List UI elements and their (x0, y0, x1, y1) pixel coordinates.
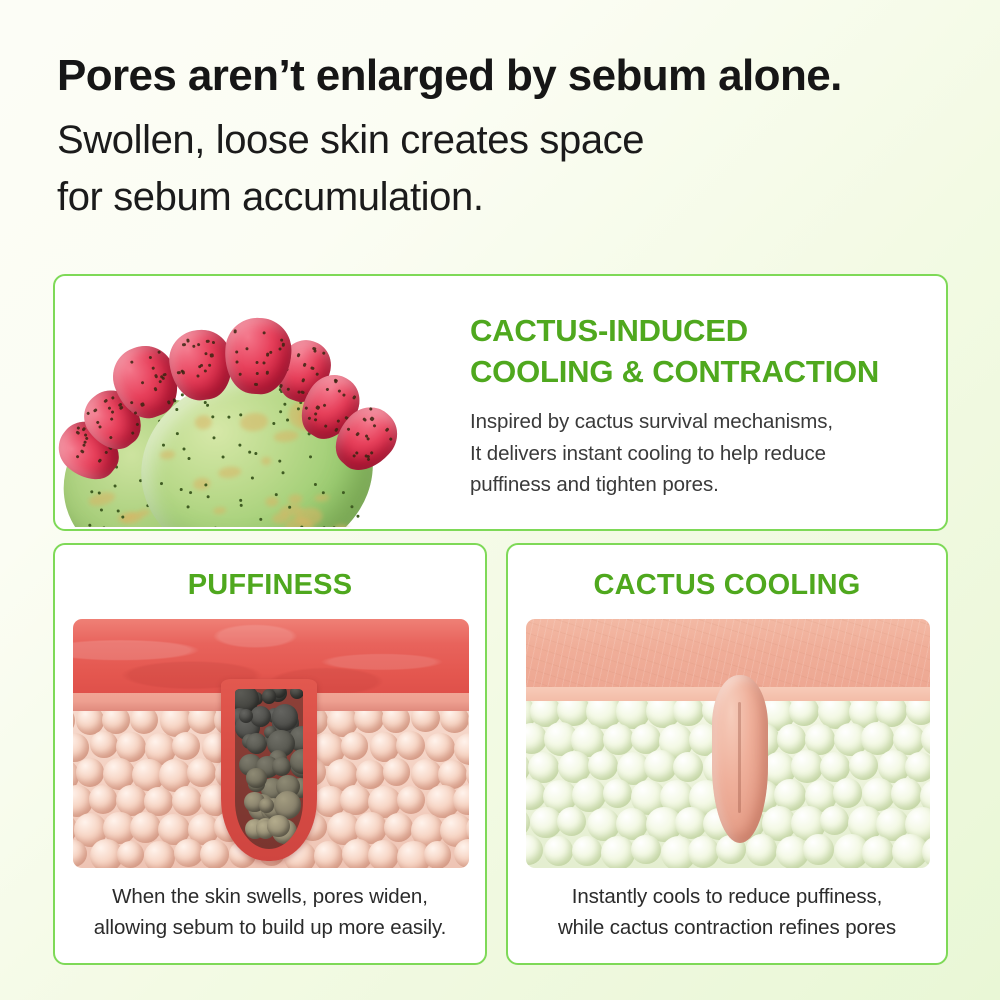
fruit-spine (148, 355, 152, 359)
infographic-page: Pores aren’t enlarged by sebum alone. Sw… (0, 0, 1000, 1000)
skin-cell (89, 785, 118, 814)
skin-cell (601, 836, 635, 868)
fruit-spine (256, 372, 259, 375)
cactus-spine (313, 482, 316, 485)
fruit-spine (313, 412, 317, 416)
cactus-spine (322, 526, 325, 527)
fruit-spine (133, 411, 137, 415)
sebum-blob (246, 768, 266, 788)
cactus-feature-body-line-2: It delivers instant cooling to help redu… (470, 438, 982, 469)
cactus-blotch (273, 429, 300, 443)
fruit-spine (269, 351, 272, 354)
skin-cell (130, 812, 161, 843)
fruit-spine (368, 406, 373, 411)
fruit-spine (370, 417, 375, 422)
cactus-blotch (314, 494, 330, 503)
fruit-spine (192, 345, 196, 349)
fruit-spine (234, 330, 237, 333)
skin-cell (891, 778, 923, 810)
skin-cell (603, 724, 634, 755)
fruit-spine (130, 360, 134, 364)
fruit-spine (280, 338, 283, 341)
cactus-spine (206, 404, 209, 407)
fruit-spine (316, 405, 320, 409)
skin-cell (383, 758, 411, 786)
skin-cell (397, 786, 425, 814)
puffiness-skin-image (73, 619, 469, 868)
skin-cell (200, 840, 229, 868)
fruit-spine (93, 408, 97, 412)
fruit-spine (109, 435, 113, 439)
fruit-spine (355, 432, 360, 437)
cactus-spine (159, 482, 162, 485)
skin-cell (746, 834, 777, 865)
skin-cell (90, 731, 118, 759)
cactus-spine (356, 515, 359, 518)
cactus-illustration (57, 282, 407, 527)
cactus-blotch (265, 496, 278, 507)
cactus-blotch (194, 414, 213, 431)
sebum-blob (239, 709, 253, 723)
fruit-spine (300, 390, 304, 394)
skin-cell (384, 813, 413, 842)
cactus-cooling-skin-image (526, 619, 930, 868)
fruit-spine (286, 387, 290, 391)
cactus-spine (113, 484, 117, 488)
fruit-spine (167, 400, 171, 404)
fruit-spine (153, 387, 157, 391)
cactus-spine (179, 488, 182, 491)
fruit-spine (140, 381, 144, 385)
fruit-spine (324, 424, 328, 428)
cactus-feature-text: CACTUS-INDUCED COOLING & CONTRACTION Ins… (470, 310, 982, 500)
cactus-spine (279, 410, 282, 413)
skin-cell (849, 751, 878, 780)
cactus-spine (278, 460, 281, 463)
page-title: Pores aren’t enlarged by sebum alone. (57, 54, 957, 98)
cactus-spine (162, 443, 165, 446)
cactus-spine (254, 452, 257, 455)
fruit-spine (388, 436, 393, 441)
swollen-skin-illustration (73, 619, 469, 868)
fruit-spine (83, 440, 87, 444)
cactus-spine (251, 477, 254, 480)
cactus-spine (239, 498, 242, 501)
fruit-spine (366, 454, 371, 459)
cactus-spine (116, 509, 120, 513)
fruit-spine (278, 347, 281, 350)
fruit-spine (98, 425, 102, 429)
fruit-spine (196, 374, 200, 378)
fruit-spine (206, 340, 210, 344)
fruit-spine (204, 352, 208, 356)
fruit-spine (104, 450, 108, 454)
fruit-spine (186, 339, 190, 343)
fruit-spine (310, 366, 314, 370)
fruit-spine (109, 417, 113, 421)
skin-cell (833, 778, 862, 807)
cooled-skin-illustration (526, 619, 930, 868)
fruit-spine (119, 405, 123, 409)
fruit-spine (266, 371, 269, 374)
skin-cell (803, 834, 834, 865)
skin-cell (921, 722, 930, 756)
skin-cell (526, 835, 543, 865)
cactus-spine (182, 447, 185, 450)
fruit-spine (246, 347, 249, 350)
skin-cell (340, 785, 371, 816)
cactus-spine (227, 415, 230, 418)
fruit-spine (208, 364, 212, 368)
skin-cell (368, 840, 399, 868)
fruit-spine (235, 360, 238, 363)
fruit-spine (255, 361, 258, 364)
fruit-spine (313, 418, 317, 422)
fruit-spine (301, 378, 305, 382)
fruit-spine (203, 370, 207, 374)
skin-cell (791, 750, 823, 782)
fruit-spine (200, 363, 204, 367)
pore-cavity (235, 689, 303, 849)
cactus-blotch (218, 465, 242, 478)
fruit-spine (322, 403, 326, 407)
fruit-spine (104, 399, 108, 403)
cactus-feature-body-line-3: puffiness and tighten pores. (470, 469, 982, 500)
clogged-pore (221, 679, 317, 861)
sebum-plug (235, 689, 303, 849)
fruit-spine (303, 363, 307, 367)
skin-cell (356, 760, 385, 789)
fruit-spine (321, 351, 325, 355)
fruit-spine (346, 427, 351, 432)
cactus-spine (189, 491, 192, 494)
cactus-blotch (193, 477, 211, 490)
fruit-spine (239, 372, 242, 375)
cactus-cooling-caption-line-1: Instantly cools to reduce puffiness, (520, 882, 934, 913)
skin-cell (603, 779, 632, 808)
puffiness-caption: When the skin swells, pores widen, allow… (67, 882, 473, 944)
cactus-feature-title-line-1: CACTUS-INDUCED (470, 310, 982, 351)
fruit-spine (342, 393, 346, 397)
fruit-spine (325, 388, 329, 392)
fruit-spine (313, 349, 317, 353)
fruit-spine (110, 396, 114, 400)
fruit-spine (262, 331, 265, 334)
cactus-spine (211, 415, 214, 418)
cactus-spine (88, 523, 92, 527)
cactus-spine (283, 402, 286, 405)
cactus-cooling-caption: Instantly cools to reduce puffiness, whi… (520, 882, 934, 944)
fruit-spine (212, 341, 216, 345)
fruit-spine (197, 343, 201, 347)
fruit-spine (76, 426, 80, 430)
fruit-spine (352, 454, 357, 459)
skin-cell (572, 836, 602, 866)
fruit-spine (81, 427, 85, 431)
skin-cell (820, 806, 849, 835)
skin-cell (76, 758, 104, 786)
fruit-spine (76, 454, 80, 458)
cactus-spine (100, 508, 104, 512)
headline-block: Pores aren’t enlarged by sebum alone. Sw… (57, 54, 957, 226)
cactus-blotch (239, 412, 268, 432)
skin-cell (117, 841, 144, 868)
fruit-spine (130, 400, 134, 404)
cactus-spine (342, 491, 345, 494)
fruit-spine (262, 362, 265, 365)
cactus-spine (300, 526, 303, 527)
cactus-spine (239, 444, 242, 447)
fruit-spine (307, 416, 311, 420)
puffiness-caption-line-2: allowing sebum to build up more easily. (67, 913, 473, 944)
skin-cell (631, 835, 661, 865)
puffiness-card-title: PUFFINESS (55, 569, 485, 602)
skin-cell (588, 751, 618, 781)
cactus-feature-title-line-2: COOLING & CONTRACTION (470, 351, 982, 392)
puffiness-card: PUFFINESS When the skin swells, pores wi… (53, 543, 487, 965)
cactus-spine (206, 495, 209, 498)
cactus-cooling-card-title: CACTUS COOLING (508, 569, 946, 602)
fruit-spine (157, 350, 161, 354)
skin-cell (370, 732, 399, 761)
tightened-pore (712, 675, 768, 843)
cactus-spine (248, 450, 251, 453)
skin-cell (187, 758, 216, 787)
fruit-spine (80, 449, 84, 453)
cactus-blotch (288, 494, 303, 505)
fruit-spine (75, 431, 79, 435)
cactus-spine (221, 455, 224, 458)
fruit-spine (279, 384, 283, 388)
fruit-spine (305, 406, 309, 410)
cactus-feature-body-line-1: Inspired by cactus survival mechanisms, (470, 406, 982, 437)
fruit-spine (366, 437, 371, 442)
fruit-spine (363, 417, 368, 422)
fruit-spine (140, 403, 144, 407)
skin-cell (396, 731, 425, 760)
subheadline-line-1: Swollen, loose skin creates space (57, 112, 957, 169)
skin-cell (172, 732, 200, 760)
fruit-spine (135, 423, 139, 427)
skin-cell (341, 732, 368, 759)
skin-cell (688, 836, 720, 868)
fruit-spine (154, 374, 158, 378)
fruit-spine (210, 354, 214, 358)
cactus-image (57, 282, 407, 527)
cactus-blotch (213, 507, 227, 515)
skin-cell (673, 752, 703, 782)
skin-cell (172, 786, 202, 816)
fruit-spine (151, 366, 155, 370)
fruit-spine (281, 343, 284, 346)
sebum-blob (272, 757, 291, 776)
cactus-spine (240, 503, 243, 506)
fruit-spine (97, 458, 101, 462)
puffiness-caption-line-1: When the skin swells, pores widen, (67, 882, 473, 913)
cactus-blotch (159, 449, 175, 459)
cactus-spine (272, 422, 275, 425)
cactus-spine (350, 505, 353, 508)
fruit-spine (355, 450, 360, 455)
skin-cell (174, 839, 203, 868)
fruit-spine (110, 410, 114, 414)
cactus-spine (213, 526, 216, 527)
fruit-spine (235, 351, 238, 354)
skin-cell (425, 733, 454, 762)
fruit-spine (254, 383, 257, 386)
cactus-spine (102, 526, 106, 527)
cactus-spine (90, 491, 94, 495)
skin-cell (557, 807, 586, 836)
skin-cell (544, 836, 574, 866)
cactus-spine (281, 471, 284, 474)
fruit-spine (86, 411, 90, 415)
cactus-spine (187, 505, 190, 508)
fruit-spine (95, 420, 99, 424)
cactus-blotch (261, 456, 272, 466)
cactus-spine (259, 517, 262, 520)
cactus-spine (288, 505, 291, 508)
fruit-spine (182, 371, 186, 375)
sebum-blob (246, 733, 267, 754)
cactus-cooling-caption-line-2: while cactus contraction refines pores (520, 913, 934, 944)
cactus-feature-card: CACTUS-INDUCED COOLING & CONTRACTION Ins… (53, 274, 948, 531)
skin-cell (675, 807, 707, 839)
fruit-spine (182, 343, 186, 347)
skin-cell (314, 841, 344, 868)
cactus-feature-title: CACTUS-INDUCED COOLING & CONTRACTION (470, 310, 982, 392)
skin-cell (862, 836, 895, 868)
fruit-spine (337, 389, 341, 393)
subheadline-line-2: for sebum accumulation. (57, 169, 957, 226)
fruit-spine (385, 428, 390, 433)
cactus-spine (188, 457, 191, 460)
cactus-feature-body: Inspired by cactus survival mechanisms, … (470, 406, 982, 499)
skin-cell (526, 808, 530, 837)
fruit-spine (336, 419, 340, 423)
fruit-spine (352, 395, 356, 399)
cactus-cooling-card: CACTUS COOLING Instantly cools to reduce… (506, 543, 948, 965)
cactus-spine (175, 408, 178, 411)
skin-cell (424, 841, 451, 868)
fruit-spine (370, 451, 375, 456)
subheadline: Swollen, loose skin creates space for se… (57, 112, 957, 226)
sebum-blob (259, 798, 274, 813)
fruit-spine (158, 380, 162, 384)
fruit-spine (315, 372, 319, 376)
cactus-spine (309, 455, 312, 458)
sebum-blob (262, 689, 277, 704)
cactus-spine (212, 436, 215, 439)
cactus-spine (175, 432, 178, 435)
fruit-spine (372, 424, 377, 429)
sebum-blob (290, 689, 303, 699)
skin-cell (144, 841, 175, 868)
fruit-spine (296, 353, 300, 357)
fruit-spine (130, 431, 134, 435)
